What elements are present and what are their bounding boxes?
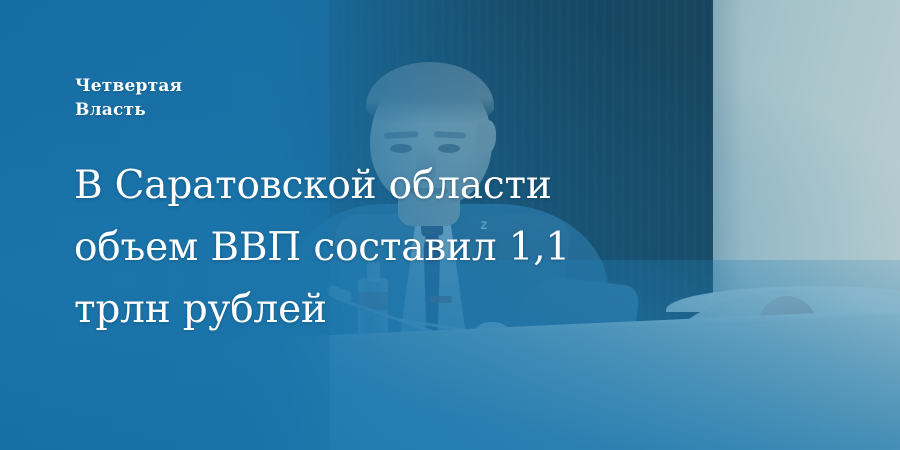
- article-headline[interactable]: В Саратовской области объем ВВП составил…: [74, 155, 634, 341]
- article-preview-card: Z: [0, 0, 900, 450]
- site-logo-line-2: Власть: [75, 98, 182, 122]
- headline-line-3: трлн рублей: [74, 279, 634, 341]
- headline-line-2: объем ВВП составил 1,1: [74, 217, 634, 279]
- site-logo-line-1: Четвертая: [75, 74, 182, 98]
- card-content: Четвертая Власть В Саратовской области о…: [0, 0, 900, 450]
- headline-line-1: В Саратовской области: [74, 155, 634, 217]
- site-logo[interactable]: Четвертая Власть: [75, 74, 182, 122]
